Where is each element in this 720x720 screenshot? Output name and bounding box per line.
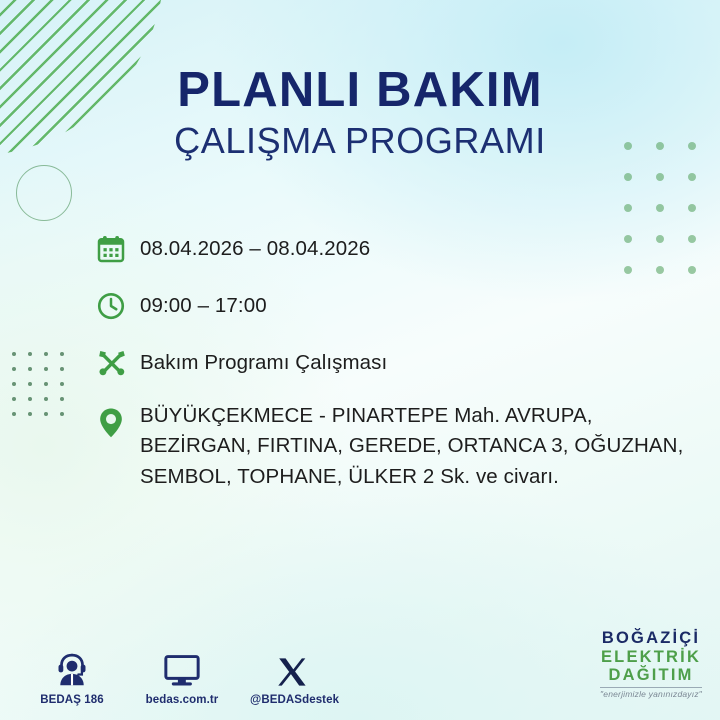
x-twitter-icon [250, 648, 334, 688]
logo-line-elektrik: ELEKTRİK [600, 649, 702, 666]
work-type-text: Bakım Programı Çalışması [140, 342, 387, 378]
contact-phone-label: BEDAŞ 186 [30, 694, 114, 706]
logo-tagline: "enerjimizle yanınızdayız" [600, 690, 702, 699]
time-range-text: 09:00 – 17:00 [140, 285, 267, 321]
clock-icon [96, 285, 140, 326]
circle-outline-decoration [16, 165, 72, 221]
contact-website-label: bedas.com.tr [140, 694, 224, 706]
contact-website[interactable]: bedas.com.tr [140, 648, 224, 706]
poster-header: PLANLI BAKIM ÇALIŞMA PROGRAMI [0, 66, 720, 162]
page-subtitle: ÇALIŞMA PROGRAMI [0, 120, 720, 162]
logo-divider [600, 687, 702, 688]
detail-row-address: BÜYÜKÇEKMECE - PINARTEPE Mah. AVRUPA, BE… [96, 399, 706, 492]
contact-x-label: @BEDASdestek [250, 694, 334, 706]
detail-row-work-type: Bakım Programı Çalışması [96, 342, 706, 383]
address-text: BÜYÜKÇEKMECE - PINARTEPE Mah. AVRUPA, BE… [140, 399, 706, 492]
planned-maintenance-poster: PLANLI BAKIM ÇALIŞMA PROGRAMI 08 [0, 0, 720, 720]
date-range-text: 08.04.2026 – 08.04.2026 [140, 228, 370, 264]
bedas-logo: BOĞAZİÇİ ELEKTRİK DAĞITIM "enerjimizle y… [600, 630, 702, 698]
detail-row-time: 09:00 – 17:00 [96, 285, 706, 326]
logo-line-dagitim: DAĞITIM [600, 667, 702, 684]
logo-line-bogazici: BOĞAZİÇİ [600, 630, 702, 647]
dot-grid-decoration-left [12, 352, 76, 427]
wrench-screwdriver-icon [96, 342, 140, 383]
page-title: PLANLI BAKIM [0, 66, 720, 116]
calendar-icon [96, 228, 140, 269]
headset-support-icon [30, 648, 114, 688]
contact-phone[interactable]: BEDAŞ 186 [30, 648, 114, 706]
monitor-icon [140, 648, 224, 688]
map-pin-icon [96, 399, 140, 443]
footer-contacts: BEDAŞ 186 bedas.com.tr @BEDASdestek [30, 648, 334, 706]
detail-row-date: 08.04.2026 – 08.04.2026 [96, 228, 706, 269]
contact-x[interactable]: @BEDASdestek [250, 648, 334, 706]
maintenance-details: 08.04.2026 – 08.04.2026 09:00 – 17:00 [96, 228, 706, 508]
